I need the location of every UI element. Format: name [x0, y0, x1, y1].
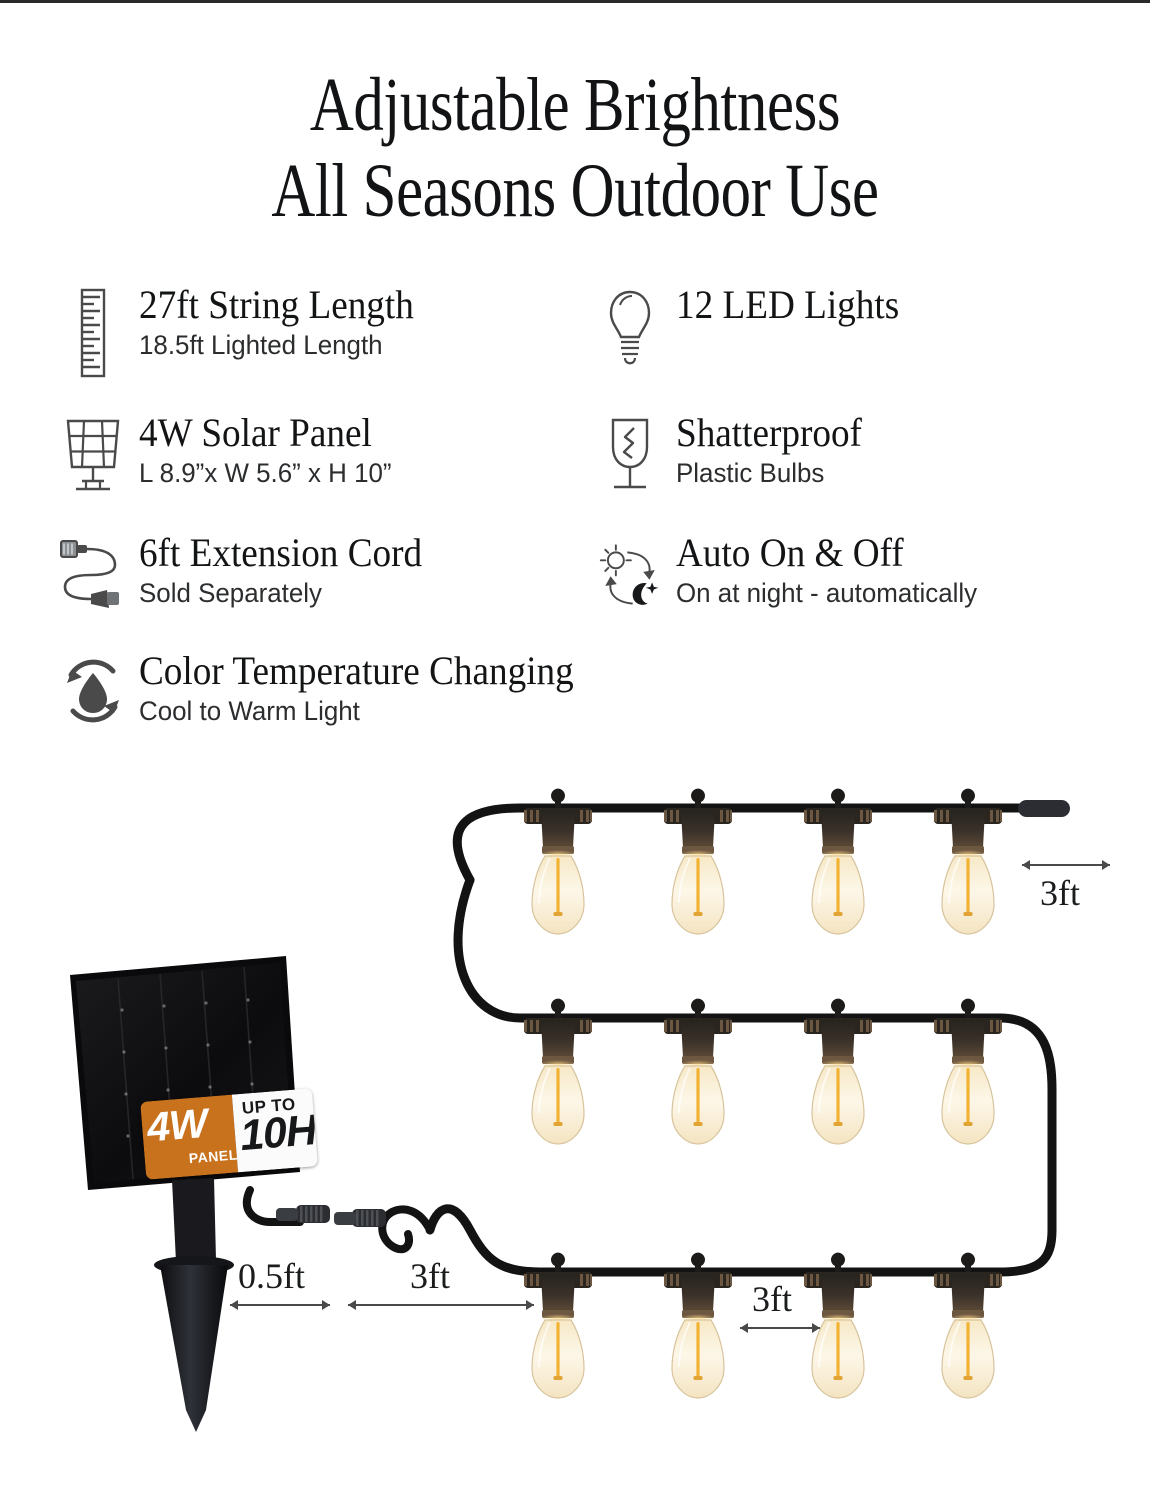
feature-text: 12 LED Lights — [668, 283, 916, 327]
feature-extension-cord: 6ft Extension Cord Sold Separately — [55, 531, 443, 615]
feature-text: 6ft Extension Cord Sold Separately — [131, 531, 443, 610]
dim-label-bulb-spacing: 3ft — [752, 1278, 792, 1320]
feature-list: 27ft String Length 18.5ft Lighted Length — [0, 283, 1150, 753]
product-infographic: Adjustable Brightness All Seasons Outdoo… — [0, 0, 1150, 1500]
fragile-glass-icon — [592, 411, 668, 497]
feature-subtitle: On at night - automatically — [676, 577, 977, 610]
feature-text: Auto On & Off On at night - automaticall… — [668, 531, 990, 610]
headline-line-2: All Seasons Outdoor Use — [115, 148, 1035, 234]
headline-line-1: Adjustable Brightness — [310, 63, 840, 147]
color-temp-icon — [55, 649, 131, 731]
feature-title: 6ft Extension Cord — [139, 531, 422, 575]
feature-subtitle: L 8.9”x W 5.6” x H 10” — [139, 457, 392, 490]
dim-label-stake-connector: 0.5ft — [238, 1255, 305, 1297]
solar-panel-icon — [55, 411, 131, 495]
feature-subtitle: Cool to Warm Light — [139, 695, 588, 728]
feature-text: Shatterproof Plastic Bulbs — [668, 411, 876, 490]
feature-subtitle: Plastic Bulbs — [676, 457, 868, 490]
feature-solar-panel: 4W Solar Panel L 8.9”x W 5.6” x H 10” — [55, 411, 402, 495]
panel-badge-panel-label: PANEL — [188, 1146, 238, 1166]
panel-badge-hours: 10H — [239, 1109, 318, 1158]
ruler-icon — [55, 283, 131, 379]
light-bulb-icon — [592, 283, 668, 373]
panel-badge-watts: 4W — [146, 1103, 209, 1149]
feature-color-temperature: Color Temperature Changing Cool to Warm … — [55, 649, 606, 731]
dim-label-top-right: 3ft — [1040, 872, 1080, 914]
feature-title: 4W Solar Panel — [139, 411, 384, 455]
feature-shatterproof: Shatterproof Plastic Bulbs — [592, 411, 876, 497]
feature-subtitle: 18.5ft Lighted Length — [139, 329, 423, 362]
feature-text: 4W Solar Panel L 8.9”x W 5.6” x H 10” — [131, 411, 402, 490]
feature-auto-on-off: Auto On & Off On at night - automaticall… — [592, 531, 990, 621]
feature-title: Auto On & Off — [676, 531, 968, 575]
product-scene: Mode WW CW ON/OFF BRIGHTECH — [0, 760, 1150, 1460]
feature-title: Color Temperature Changing — [139, 649, 574, 693]
sun-moon-cycle-icon — [592, 531, 668, 621]
extension-cord-icon — [55, 531, 131, 615]
feature-string-length: 27ft String Length 18.5ft Lighted Length — [55, 283, 435, 379]
feature-title: 12 LED Lights — [676, 283, 899, 327]
feature-text: 27ft String Length 18.5ft Lighted Length — [131, 283, 435, 362]
top-border — [0, 0, 1150, 3]
feature-title: Shatterproof — [676, 411, 862, 455]
feature-text: Color Temperature Changing Cool to Warm … — [131, 649, 606, 728]
dim-label-connector-bulb: 3ft — [410, 1255, 450, 1297]
feature-subtitle: Sold Separately — [139, 577, 431, 610]
feature-led-lights: 12 LED Lights — [592, 283, 916, 373]
page-title: Adjustable Brightness All Seasons Outdoo… — [115, 62, 1035, 234]
feature-title: 27ft String Length — [139, 283, 414, 327]
